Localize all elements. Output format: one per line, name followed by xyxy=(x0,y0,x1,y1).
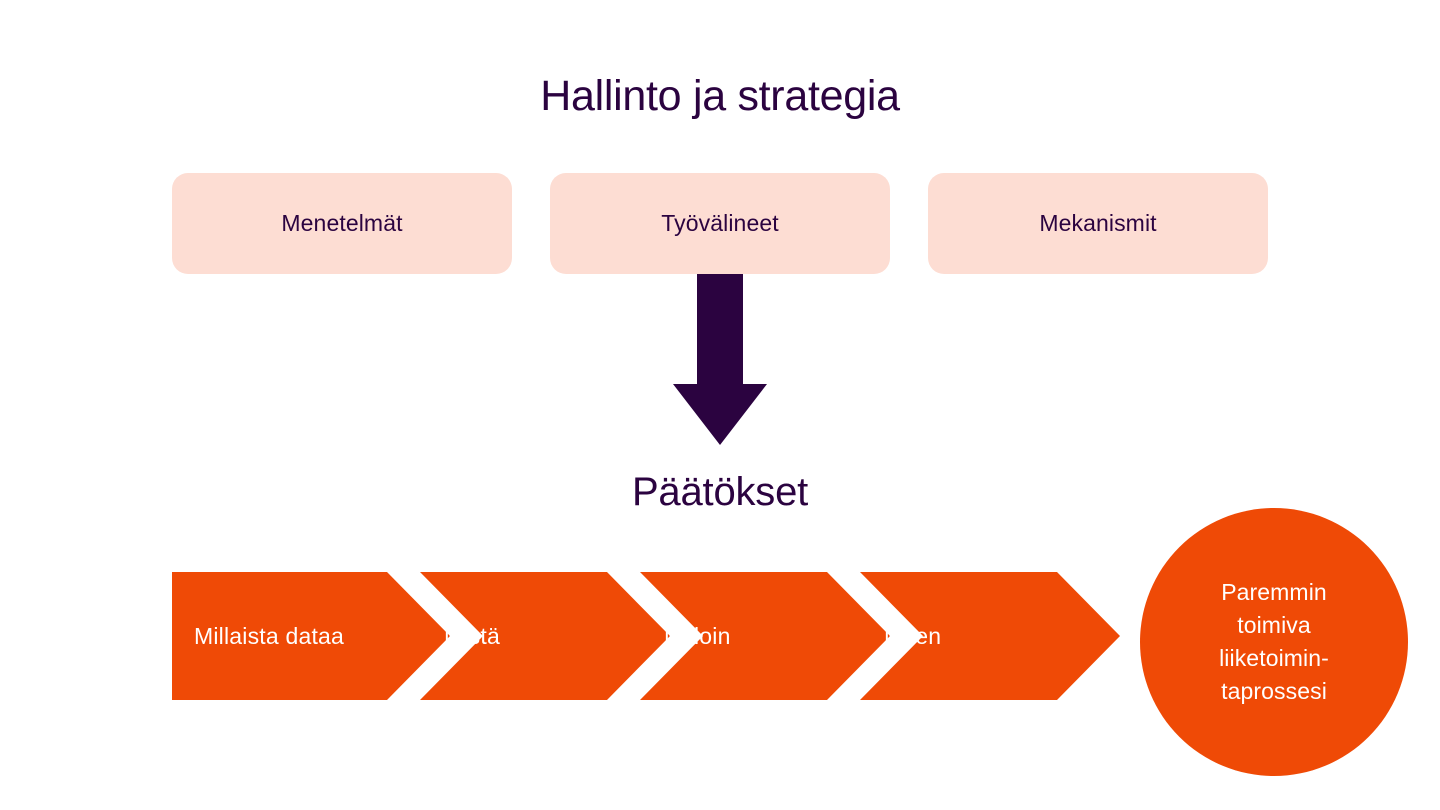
chevron-step-label: Miten xyxy=(884,623,941,650)
outcome-line: toimiva xyxy=(1237,609,1311,642)
chevron-step-label: Mistä xyxy=(444,623,500,650)
pillar-box-tools[interactable]: Työvälineet xyxy=(550,173,890,274)
section-heading-decisions: Päätökset xyxy=(0,470,1440,515)
diagram-canvas: Hallinto ja strategia Menetelmät Työväli… xyxy=(0,0,1440,810)
pillar-row: Menetelmät Työvälineet Mekanismit xyxy=(172,173,1268,274)
process-chevron-band: Millaista dataa Mistä Milloin Miten xyxy=(172,572,1122,700)
outcome-line: liiketoimin- xyxy=(1219,642,1329,675)
chevron-step-label: Milloin xyxy=(664,623,731,650)
pillar-box-mechanisms[interactable]: Mekanismit xyxy=(928,173,1268,274)
chevron-step-1[interactable]: Millaista dataa xyxy=(194,572,344,700)
arrow-down-icon-svg xyxy=(672,274,768,446)
chevron-step-4[interactable]: Miten xyxy=(884,572,941,700)
outcome-line: taprossesi xyxy=(1221,675,1327,708)
page-title: Hallinto ja strategia xyxy=(0,72,1440,121)
outcome-circle[interactable]: Paremmin toimiva liiketoimin- taprossesi xyxy=(1140,508,1408,776)
pillar-label: Menetelmät xyxy=(281,210,402,237)
pillar-box-methods[interactable]: Menetelmät xyxy=(172,173,512,274)
chevron-step-2[interactable]: Mistä xyxy=(444,572,500,700)
pillar-label: Työvälineet xyxy=(661,210,778,237)
chevron-step-3[interactable]: Milloin xyxy=(664,572,731,700)
chevron-step-label: Millaista dataa xyxy=(194,623,344,650)
arrow-down-icon xyxy=(672,274,768,446)
pillar-label: Mekanismit xyxy=(1039,210,1156,237)
outcome-line: Paremmin xyxy=(1221,576,1327,609)
